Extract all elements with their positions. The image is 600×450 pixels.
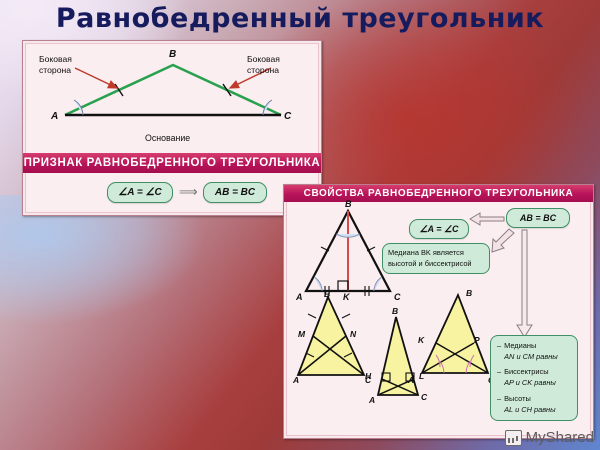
background-blue-glow-left (0, 195, 330, 345)
label-left-side-2: сторона (39, 65, 71, 75)
formula-equal-sides: AB = BC (203, 182, 267, 203)
bisectors-label-b: B (466, 288, 472, 298)
summary-dash: – (497, 394, 501, 415)
arrow-to-summary (517, 230, 532, 337)
medians-label-m: M (298, 329, 305, 339)
bisectors-label-p: P (474, 335, 480, 345)
label-right-side-2: сторона (247, 65, 279, 75)
summary-item-text: Высоты AL и CH равны (504, 394, 555, 415)
banner-criterion: ПРИЗНАК РАВНОБЕДРЕННОГО ТРЕУГОЛЬНИКА (23, 153, 321, 173)
heights-label-c: C (421, 392, 427, 402)
bisectors-label-k: K (418, 335, 424, 345)
medians-label-n: N (350, 329, 356, 339)
summary-title: Биссектрисы (504, 367, 556, 378)
summary-box: – Медианы AN и CM равны – Биссектрисы AP… (490, 335, 578, 421)
watermark: MyShared (505, 429, 594, 446)
summary-item: – Биссектрисы AP и CK равны (497, 367, 571, 388)
summary-detail: AN и CM равны (504, 352, 558, 363)
label-vertex-c: C (284, 111, 291, 123)
heights-label-b: B (392, 306, 398, 316)
tick-bm (308, 314, 316, 318)
label-vertex-b: B (169, 49, 176, 61)
slide-root: Равнобедренный треугольник B A C (0, 0, 600, 450)
bisectors-label-a: A (408, 375, 414, 385)
page-title: Равнобедренный треугольник (0, 3, 600, 34)
summary-title: Медианы (504, 341, 558, 352)
summary-item-text: Медианы AN и CM равны (504, 341, 558, 362)
summary-dash: – (497, 367, 501, 388)
watermark-label: MyShared (526, 429, 594, 446)
label-left-side-1: Боковая (39, 54, 72, 64)
summary-title: Высоты (504, 394, 555, 405)
formula-equal-angles: ∠A = ∠C (107, 182, 173, 203)
arrow-to-angle-box (470, 213, 504, 225)
summary-detail: AP и CK равны (504, 378, 556, 389)
angle-arc-a (74, 100, 83, 115)
arrow-to-median-box (492, 229, 514, 252)
implication-arrow: ⟹ (179, 184, 198, 199)
arrow-left-leg (75, 68, 117, 88)
label-vertex-a: A (51, 111, 58, 123)
myshared-logo-icon (505, 430, 522, 446)
summary-item-text: Биссектрисы AP и CK равны (504, 367, 556, 388)
tick-bn (342, 314, 350, 318)
summary-item: – Высоты AL и CH равны (497, 394, 571, 415)
label-right-side-1: Боковая (247, 54, 280, 64)
heights-label-a: A (369, 395, 375, 405)
heights-label-h: H (365, 371, 371, 381)
angle-arc-c (263, 100, 272, 115)
summary-dash: – (497, 341, 501, 362)
label-base: Основание (145, 133, 190, 143)
summary-detail: AL и CH равны (504, 405, 555, 416)
summary-item: – Медианы AN и CM равны (497, 341, 571, 362)
medians-label-b: B (324, 289, 330, 299)
panel-isosceles-properties: СВОЙСТВА РАВНОБЕДРЕННОГО ТРЕУГОЛЬНИКА B … (283, 184, 594, 439)
medians-label-a: A (293, 375, 299, 385)
bisectors-triangle-outline (422, 295, 488, 373)
panel-isosceles-criterion: B A C Боковая сторона Боковая сторона Ос… (22, 40, 322, 216)
